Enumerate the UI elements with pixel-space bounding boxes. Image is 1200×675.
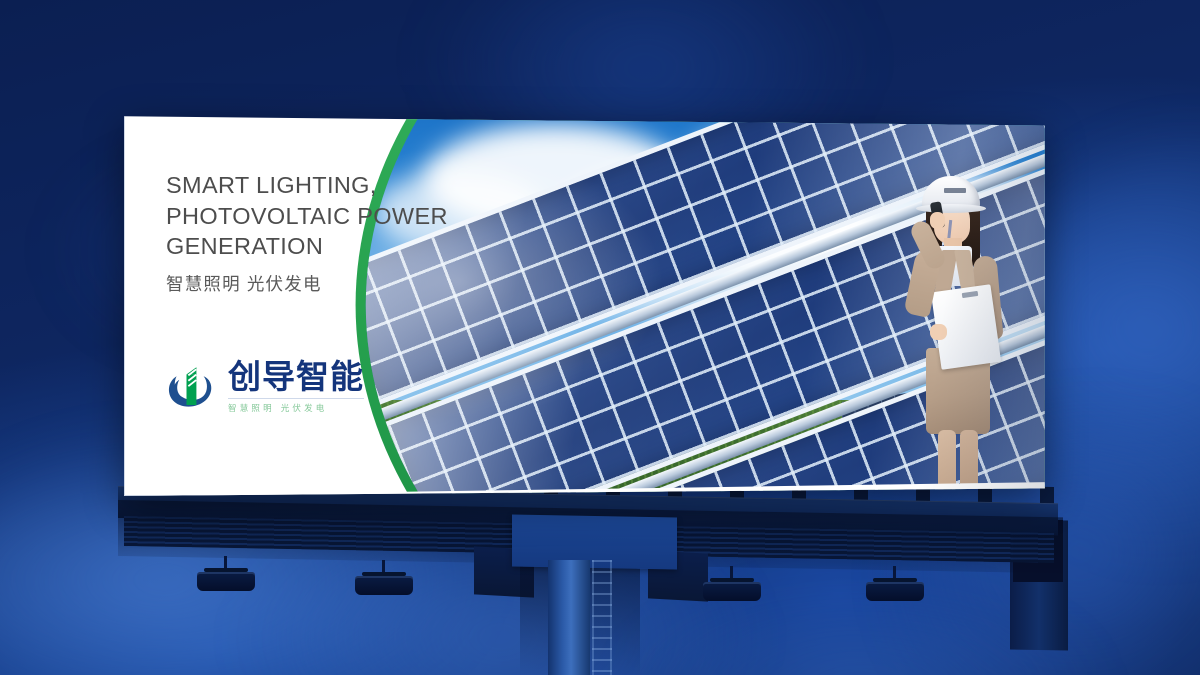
logo-divider	[228, 398, 364, 399]
company-logo: 创导智能 智慧照明 光伏发电	[164, 360, 364, 414]
hand	[930, 212, 945, 229]
hard-hat-logo	[944, 188, 966, 193]
floodlight-icon	[382, 560, 385, 594]
page-title: SMART LIGHTING, PHOTOVOLTAIC POWER GENER…	[166, 170, 496, 262]
chuangdao-circular-mark-icon	[164, 360, 218, 414]
billboard-scene: SMART LIGHTING, PHOTOVOLTAIC POWER GENER…	[0, 0, 1200, 675]
maintenance-ladder	[592, 560, 612, 675]
logo-company-name: 创导智能	[228, 360, 364, 393]
floodlight-icon	[224, 556, 227, 590]
billboard-copy-block: SMART LIGHTING, PHOTOVOLTAIC POWER GENER…	[166, 170, 496, 296]
hand	[930, 324, 947, 340]
hard-hat-brim	[916, 204, 986, 213]
logo-text-block: 创导智能 智慧照明 光伏发电	[228, 360, 364, 414]
billboard-panel: SMART LIGHTING, PHOTOVOLTAIC POWER GENER…	[124, 114, 1054, 496]
logo-tagline: 智慧照明 光伏发电	[228, 402, 364, 414]
floodlight-icon	[730, 566, 733, 600]
support-column	[548, 560, 590, 675]
billboard-face: SMART LIGHTING, PHOTOVOLTAIC POWER GENER…	[124, 114, 1054, 496]
engineer-figure	[892, 176, 1012, 496]
subtitle-chinese: 智慧照明 光伏发电	[166, 271, 496, 296]
floodlight-icon	[893, 566, 896, 600]
